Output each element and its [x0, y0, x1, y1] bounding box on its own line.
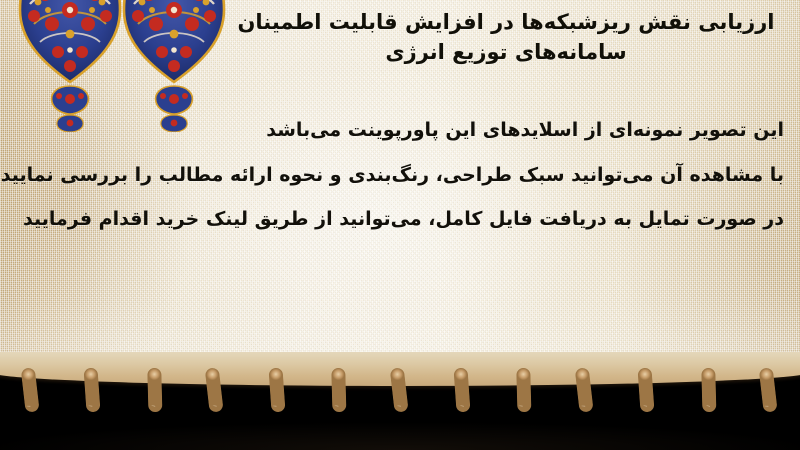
tassel-brush: [77, 405, 107, 450]
tassel-brush: [507, 405, 538, 450]
tassel-brush: [571, 405, 600, 450]
carpet-fringe-band: [0, 352, 800, 450]
slide-title-line-2: سامانه‌های توزیع انرژی: [226, 38, 786, 68]
slide-body-line-3: در صورت تمایل به دریافت فایل کامل، می‌تو…: [14, 197, 784, 242]
fringe-tassel: [752, 367, 786, 450]
fringe-tassel: [383, 367, 417, 450]
tassel-brush: [262, 405, 291, 450]
slide-body-line-1: این تصویر نمونه‌ای از اسلایدهای این پاور…: [14, 108, 784, 153]
fringe-tassel: [447, 368, 477, 450]
fringe-tassel: [568, 367, 602, 450]
slide-title-line-1: ارزیابی نقش ریزشبکه‌ها در افزایش قابلیت …: [226, 8, 786, 38]
slide-body-text: این تصویر نمونه‌ای از اسلایدهای این پاور…: [14, 108, 784, 242]
slide-body-line-2: با مشاهده آن می‌توانید سبک طراحی، رنگ‌بن…: [14, 153, 784, 198]
fringe-tassel: [691, 367, 725, 450]
tassel-brush: [136, 404, 170, 450]
fringe-tassel: [137, 367, 171, 450]
tassel-brush: [322, 404, 354, 450]
fringe-tassel: [322, 367, 356, 450]
slide-title: ارزیابی نقش ریزشبکه‌ها در افزایش قابلیت …: [226, 8, 786, 68]
tassel-brush: [200, 404, 232, 450]
tassel-brush: [756, 406, 783, 450]
fringe-tassel: [77, 368, 107, 450]
tassel-brush: [386, 405, 416, 450]
tassel-brush: [689, 404, 724, 450]
fringe-tassel: [506, 367, 540, 450]
fringe-tassel: [262, 368, 292, 450]
fringe-tassel: [14, 367, 48, 450]
tassel-brush: [18, 406, 45, 450]
tassel-brush: [445, 404, 478, 450]
tassel-brush: [630, 404, 662, 450]
fringe-tassel: [631, 368, 661, 450]
fringe-tassel: [199, 367, 233, 450]
slide-canvas: ارزیابی نقش ریزشبکه‌ها در افزایش قابلیت …: [0, 0, 800, 450]
